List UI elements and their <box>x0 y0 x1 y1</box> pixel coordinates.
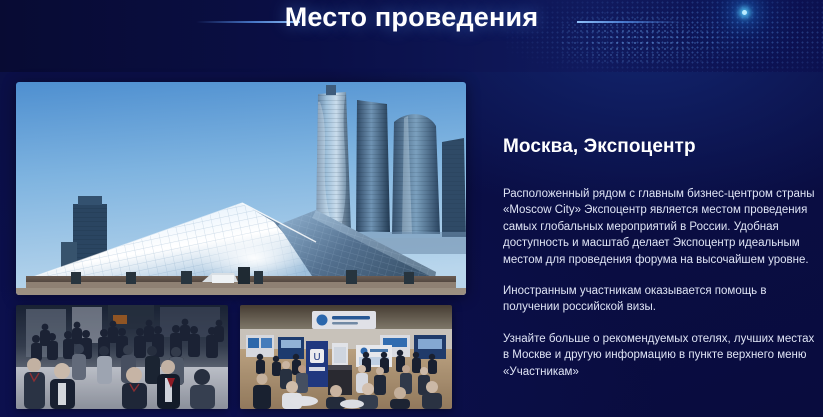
venue-paragraph-2: Иностранным участникам оказывается помощ… <box>503 283 815 316</box>
venue-paragraph-3: Узнайте больше о рекомендуемых отелях, л… <box>503 331 815 380</box>
expocentre-photo-illustration <box>16 82 466 295</box>
venue-section: Место проведения <box>0 0 823 417</box>
venue-text-column: Москва, Экспоцентр Расположенный рядом с… <box>503 136 815 380</box>
page-title: Место проведения <box>0 2 823 33</box>
thumbnail-attendees-crowd <box>16 305 228 409</box>
attendees-crowd-illustration <box>16 305 228 409</box>
exhibition-hall-illustration: U <box>240 305 452 409</box>
thumbnail-exhibition-hall: U <box>240 305 452 409</box>
hero-photo <box>16 82 466 295</box>
venue-heading: Москва, Экспоцентр <box>503 136 815 158</box>
venue-paragraph-1: Расположенный рядом с главным бизнес-цен… <box>503 186 815 268</box>
